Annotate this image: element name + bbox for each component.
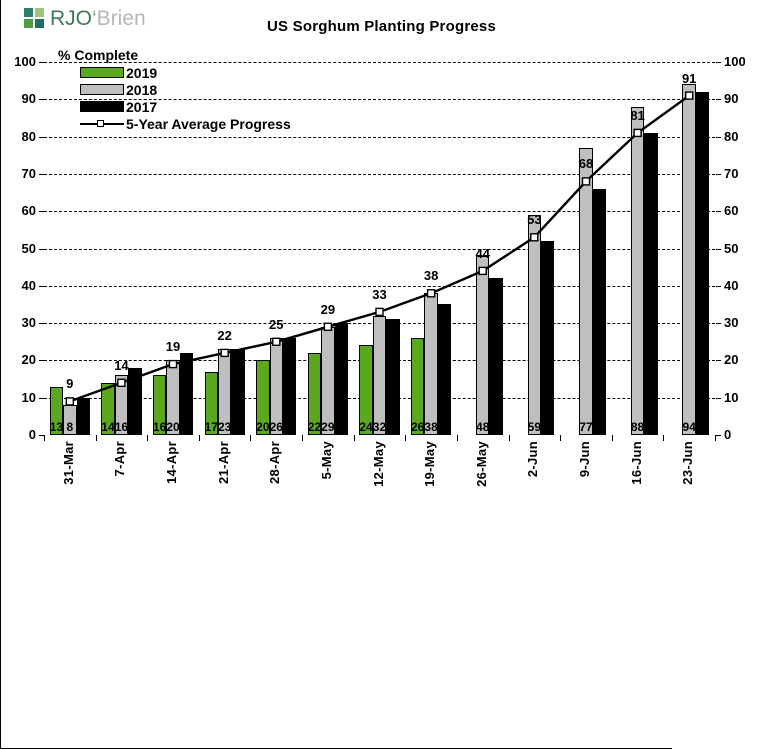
y-axis-right-tick-label: 10 (724, 391, 760, 404)
average-line-marker[interactable] (170, 361, 177, 368)
y-tick-mark (716, 323, 721, 324)
y-axis-right-tick-label: 100 (724, 55, 760, 68)
average-value-label: 33 (360, 288, 400, 301)
x-tick-mark (612, 435, 613, 441)
average-value-label: 19 (153, 340, 193, 353)
y-axis-left-tick-label: 80 (0, 130, 36, 143)
y-axis-left-tick-label: 40 (0, 279, 36, 292)
average-line-marker[interactable] (583, 178, 590, 185)
x-axis-label: 7-Apr (113, 441, 126, 476)
y-tick-mark (39, 360, 44, 361)
y-axis-right-tick-label: 70 (724, 167, 760, 180)
y-tick-mark (39, 398, 44, 399)
x-axis-label: 5-May (320, 441, 333, 479)
x-axis-label: 16-Jun (630, 441, 643, 485)
average-line-marker[interactable] (118, 379, 125, 386)
y-tick-mark (716, 137, 721, 138)
average-line-path (70, 96, 689, 402)
y-tick-mark (39, 286, 44, 287)
plot-area: 1381416162017232026222924322638485977889… (44, 62, 715, 435)
y-tick-mark (39, 99, 44, 100)
y-tick-mark (716, 211, 721, 212)
y-axis-right-tick-label: 20 (724, 353, 760, 366)
x-tick-mark (96, 435, 97, 441)
y-tick-mark (39, 323, 44, 324)
y-axis-left-tick-label: 50 (0, 242, 36, 255)
average-value-label: 25 (256, 318, 296, 331)
y-tick-mark (39, 249, 44, 250)
y-tick-mark (716, 174, 721, 175)
x-axis-label: 14-Apr (165, 441, 178, 484)
average-value-label: 53 (514, 213, 554, 226)
y-tick-mark (716, 286, 721, 287)
y-tick-mark (716, 435, 721, 436)
average-value-label: 68 (566, 157, 606, 170)
average-line-marker[interactable] (634, 129, 641, 136)
y-axis-right-tick-label: 30 (724, 316, 760, 329)
average-line-marker[interactable] (376, 308, 383, 315)
y-axis-left-tick-label: 0 (0, 428, 36, 441)
y-axis-right-tick-label: 80 (724, 130, 760, 143)
y-axis-left-tick-label: 100 (0, 55, 36, 68)
y-axis-left-tick-label: 60 (0, 204, 36, 217)
average-line-marker[interactable] (479, 267, 486, 274)
x-axis-label: 19-May (423, 441, 436, 487)
average-value-label: 38 (411, 269, 451, 282)
y-axis-left-tick-label: 10 (0, 391, 36, 404)
x-axis-label: 26-May (475, 441, 488, 487)
y-axis-right-tick-label: 50 (724, 242, 760, 255)
y-axis-left-tick-label: 20 (0, 353, 36, 366)
y-axis-right-tick-label: 0 (724, 428, 760, 441)
y-tick-mark (716, 360, 721, 361)
y-tick-mark (716, 398, 721, 399)
y-tick-mark (39, 435, 44, 436)
x-tick-mark (560, 435, 561, 441)
average-line-marker[interactable] (531, 234, 538, 241)
average-value-label: 44 (463, 247, 503, 260)
average-line-marker[interactable] (686, 92, 693, 99)
y-tick-mark (716, 249, 721, 250)
y-axis-right-tick-label: 90 (724, 92, 760, 105)
average-value-label: 14 (101, 359, 141, 372)
y-axis-left-tick-label: 30 (0, 316, 36, 329)
average-value-label: 9 (50, 377, 90, 390)
average-line-marker[interactable] (324, 323, 331, 330)
average-line-marker[interactable] (273, 338, 280, 345)
average-line-series (44, 62, 715, 435)
x-axis-label: 23-Jun (681, 441, 694, 485)
average-value-label: 29 (308, 303, 348, 316)
y-axis-left-tick-label: 90 (0, 92, 36, 105)
average-value-label: 91 (669, 72, 709, 85)
x-axis-label: 31-Mar (62, 441, 75, 485)
average-line-marker[interactable] (221, 349, 228, 356)
x-tick-mark (302, 435, 303, 441)
y-axis-right-tick-label: 40 (724, 279, 760, 292)
y-axis-right-tick-label: 60 (724, 204, 760, 217)
y-tick-mark (39, 62, 44, 63)
average-value-label: 81 (618, 109, 658, 122)
x-axis-label: 9-Jun (578, 441, 591, 477)
x-tick-mark (509, 435, 510, 441)
average-value-label: 22 (205, 329, 245, 342)
x-tick-mark (147, 435, 148, 441)
average-line-marker[interactable] (428, 290, 435, 297)
x-tick-mark (405, 435, 406, 441)
x-tick-mark (250, 435, 251, 441)
y-tick-mark (39, 211, 44, 212)
y-tick-mark (39, 174, 44, 175)
y-tick-mark (716, 62, 721, 63)
x-tick-mark (199, 435, 200, 441)
x-axis-label: 12-May (372, 441, 385, 487)
x-tick-mark (354, 435, 355, 441)
x-tick-mark (44, 435, 45, 441)
average-line-marker[interactable] (66, 398, 73, 405)
x-axis-label: 2-Jun (526, 441, 539, 477)
x-axis-label: 21-Apr (217, 441, 230, 484)
x-tick-mark (457, 435, 458, 441)
y-axis-left-tick-label: 70 (0, 167, 36, 180)
y-tick-mark (716, 99, 721, 100)
x-tick-mark (663, 435, 664, 441)
legend-title: % Complete (58, 47, 291, 63)
page-title: US Sorghum Planting Progress (0, 18, 763, 35)
x-axis-label: 28-Apr (268, 441, 281, 484)
y-tick-mark (39, 137, 44, 138)
